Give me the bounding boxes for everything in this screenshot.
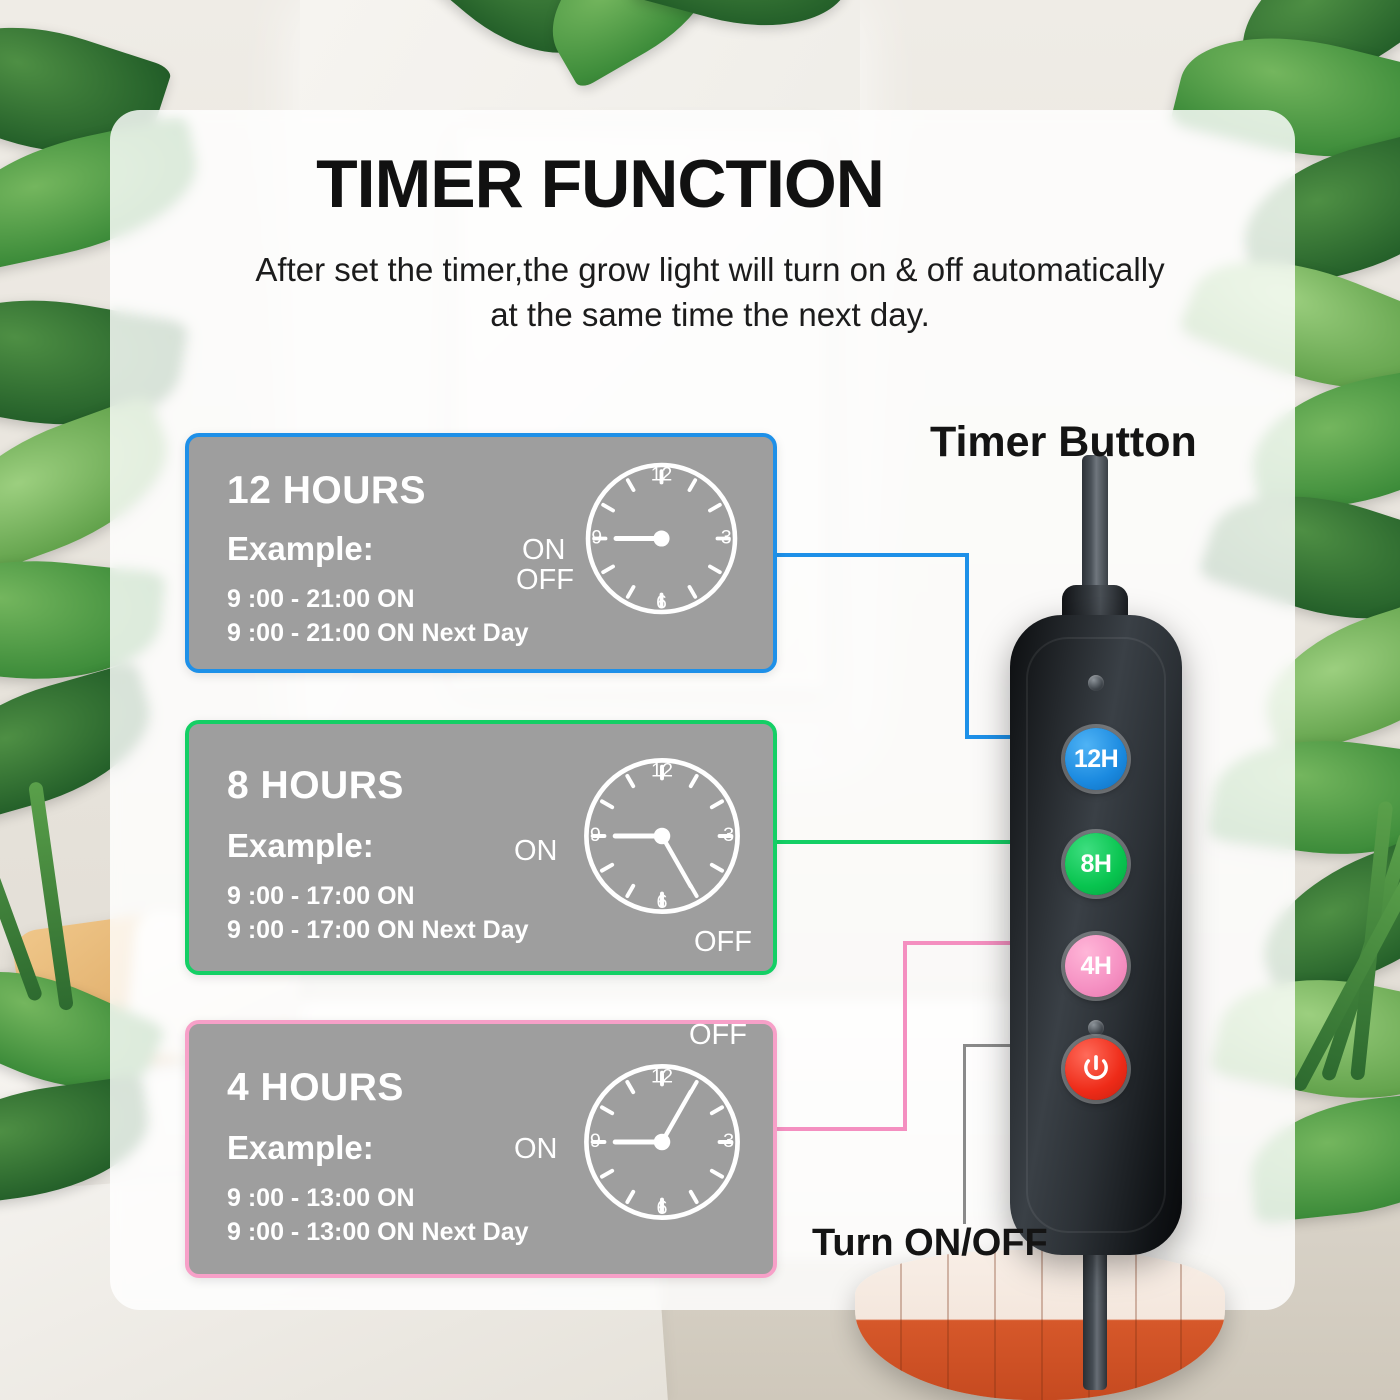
- ottoman-rib: [1041, 1250, 1043, 1400]
- ottoman-rib: [994, 1250, 996, 1400]
- card-schedule-line-2: 9 :00 - 13:00 ON Next Day: [227, 1218, 529, 1247]
- connector-4h-segment-3: [777, 1127, 907, 1131]
- svg-text:12: 12: [651, 759, 673, 781]
- card-schedule-line-1: 9 :00 - 13:00 ON: [227, 1184, 415, 1213]
- clock-on-label: ON: [514, 836, 558, 866]
- timer-button-callout-label: Timer Button: [930, 418, 1197, 467]
- connector-4h-segment-2: [903, 941, 907, 1131]
- clock-on-label: ON: [522, 535, 566, 565]
- timer-card-12-hours[interactable]: 12 HOURS Example: 9 :00 - 21:00 ON 9 :00…: [185, 433, 777, 673]
- clock-off-label: OFF: [516, 565, 574, 595]
- 12h-button-label: 12H: [1074, 745, 1118, 774]
- card-hours-label: 12 HOURS: [227, 469, 426, 513]
- 8h-button[interactable]: 8H: [1065, 833, 1127, 895]
- turn-onoff-callout-label: Turn ON/OFF: [812, 1222, 1048, 1265]
- card-hours-label: 8 HOURS: [227, 764, 404, 808]
- connector-12h-segment-1: [777, 553, 969, 557]
- subtitle-line-2: at the same time the next day.: [160, 293, 1260, 338]
- 4h-button-label: 4H: [1081, 952, 1112, 981]
- clock-off-label: OFF: [694, 927, 752, 957]
- timer-card-8-hours[interactable]: 8 HOURS Example: 9 :00 - 17:00 ON 9 :00 …: [185, 720, 777, 975]
- clock-on-label: ON: [514, 1134, 558, 1164]
- card-hours-label: 4 HOURS: [227, 1066, 404, 1110]
- page-subtitle: After set the timer,the grow light will …: [160, 248, 1260, 337]
- card-example-label: Example:: [227, 827, 374, 865]
- clock-face-4-hours: 12 3 6 9: [572, 1052, 752, 1237]
- ottoman-rib: [1180, 1250, 1182, 1400]
- svg-text:9: 9: [590, 1130, 601, 1152]
- clock-svg: 12 3 6 9: [572, 746, 752, 926]
- 4h-button[interactable]: 4H: [1065, 935, 1127, 997]
- timer-controller-device[interactable]: 12H 8H 4H: [1010, 615, 1182, 1255]
- card-example-label: Example:: [227, 1129, 374, 1167]
- card-schedule-line-2: 9 :00 - 17:00 ON Next Day: [227, 916, 529, 945]
- svg-text:3: 3: [723, 1130, 734, 1152]
- power-button[interactable]: [1065, 1038, 1127, 1100]
- status-led-bottom: [1088, 1020, 1104, 1036]
- svg-text:12: 12: [651, 1065, 673, 1087]
- clock-face-12-hours: 12 3 6 9: [574, 451, 749, 631]
- clock-svg: 12 3 6 9: [574, 451, 749, 626]
- svg-text:3: 3: [723, 824, 734, 846]
- connector-12h-segment-2: [965, 553, 969, 739]
- page-title: TIMER FUNCTION: [0, 145, 1200, 223]
- svg-text:9: 9: [590, 824, 601, 846]
- status-led-top: [1088, 675, 1104, 691]
- ottoman-rib: [900, 1250, 902, 1400]
- card-example-label: Example:: [227, 530, 374, 568]
- svg-text:6: 6: [656, 592, 667, 613]
- svg-text:12: 12: [651, 465, 672, 486]
- clock-face-8-hours: 12 3 6 9: [572, 746, 752, 931]
- subtitle-line-1: After set the timer,the grow light will …: [160, 248, 1260, 293]
- power-icon: [1079, 1052, 1113, 1086]
- ottoman-rib: [947, 1250, 949, 1400]
- card-schedule-line-2: 9 :00 - 21:00 ON Next Day: [227, 619, 529, 648]
- clock-off-label: OFF: [689, 1020, 747, 1050]
- 8h-button-label: 8H: [1081, 850, 1112, 879]
- power-cord-lower: [1083, 1240, 1107, 1390]
- svg-text:3: 3: [721, 528, 732, 549]
- card-schedule-line-1: 9 :00 - 17:00 ON: [227, 882, 415, 911]
- connector-power-segment-2: [963, 1044, 966, 1224]
- clock-svg: 12 3 6 9: [572, 1052, 752, 1232]
- timer-card-4-hours[interactable]: 4 HOURS Example: 9 :00 - 13:00 ON 9 :00 …: [185, 1020, 777, 1278]
- svg-text:6: 6: [656, 891, 667, 913]
- svg-text:9: 9: [591, 528, 602, 549]
- ottoman-rib: [1135, 1250, 1137, 1400]
- 12h-button[interactable]: 12H: [1065, 728, 1127, 790]
- svg-text:6: 6: [656, 1197, 667, 1219]
- card-schedule-line-1: 9 :00 - 21:00 ON: [227, 585, 415, 614]
